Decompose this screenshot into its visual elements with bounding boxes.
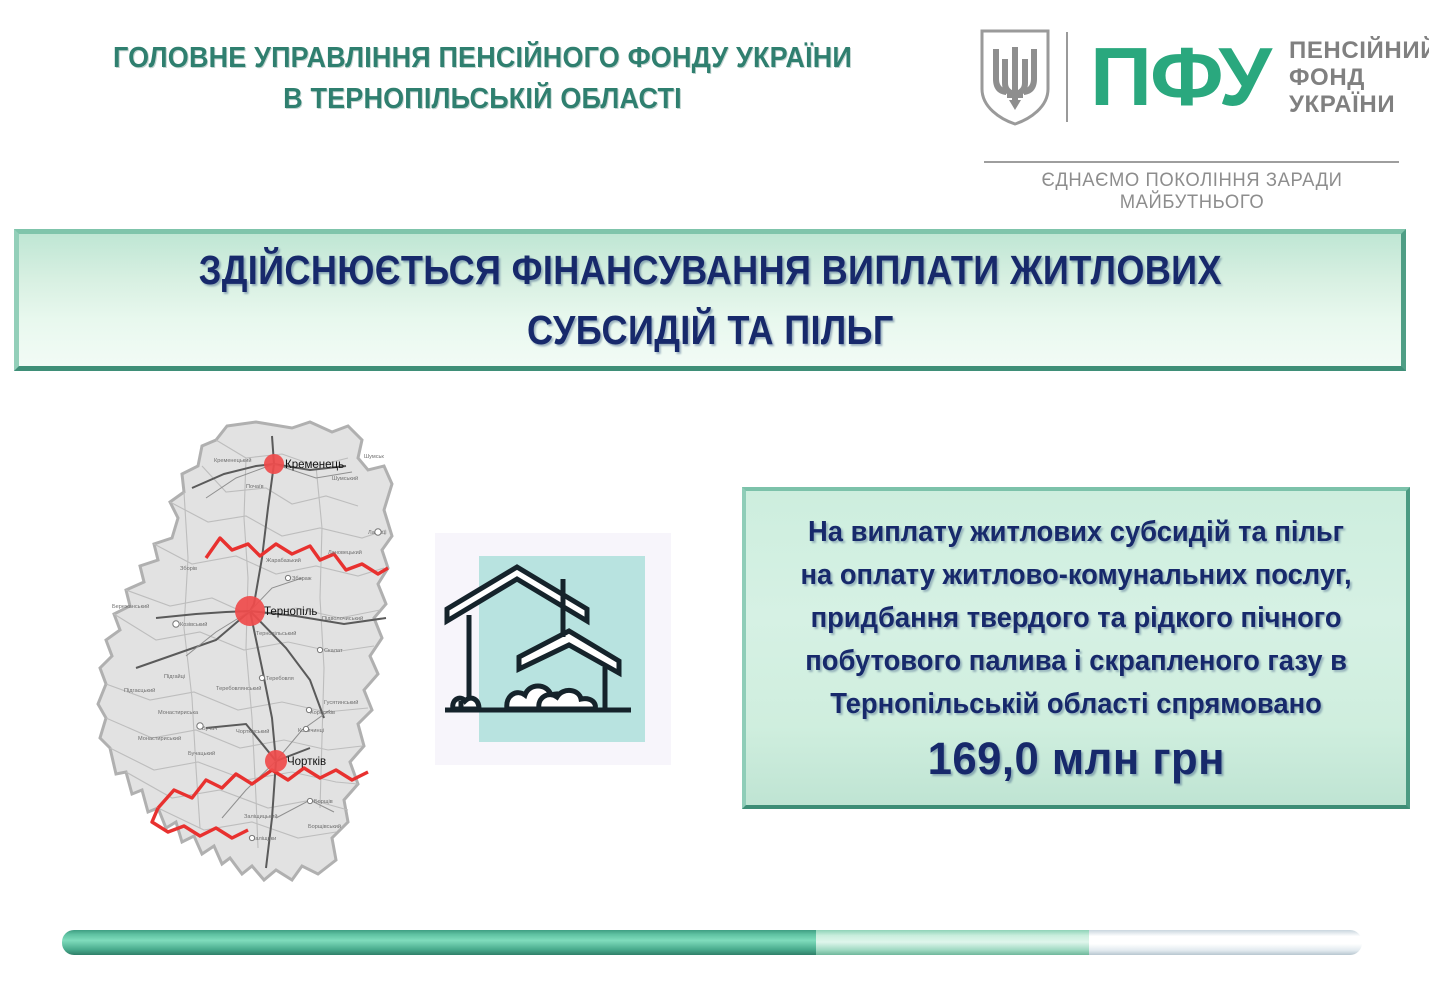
svg-text:Борщівський: Борщівський: [308, 823, 341, 830]
svg-text:Борщів: Борщів: [314, 799, 333, 805]
svg-text:Заліщицький: Заліщицький: [244, 813, 278, 820]
banner-text: ЗДІЙСНЮЄТЬСЯ ФІНАНСУВАННЯ ВИПЛАТИ ЖИТЛОВ…: [198, 240, 1221, 360]
logo-divider: [1066, 32, 1068, 122]
svg-text:Бучач: Бучач: [202, 726, 217, 732]
svg-text:Копичинці: Копичинці: [298, 728, 324, 734]
map-svg: Кременець Тернопіль Чортків Кременецький…: [96, 418, 426, 908]
svg-text:Чортківський: Чортківський: [236, 728, 269, 735]
svg-text:Бучацький: Бучацький: [188, 750, 215, 757]
funding-line-2: на оплату житлово-комунальних послуг,: [800, 554, 1351, 597]
pfu-word-2: ФОНД: [1289, 64, 1429, 91]
pfu-tagline: ЄДНАЄМО ПОКОЛІННЯ ЗАРАДИ МАЙБУТНЬОГО: [984, 170, 1399, 214]
svg-text:Монастириський: Монастириський: [138, 735, 181, 742]
footer-bar-segment-white: [1089, 930, 1362, 955]
svg-text:Козівський: Козівський: [180, 621, 207, 628]
funding-line-3: придбання твердого та рідкого пічного: [800, 597, 1351, 640]
svg-text:Бережанський: Бережанський: [112, 603, 149, 610]
svg-text:Тернопільський: Тернопільський: [256, 630, 296, 637]
svg-text:Підгайці: Підгайці: [164, 673, 185, 680]
svg-text:Монастириська: Монастириська: [158, 710, 199, 716]
org-title-line1: ГОЛОВНЕ УПРАВЛІННЯ ПЕНСІЙНОГО ФОНДУ УКРА…: [113, 42, 852, 74]
ukraine-trident-icon: [978, 27, 1052, 127]
tagline-divider: [984, 161, 1399, 163]
funding-description: На виплату житлових субсидій та пільг на…: [800, 511, 1351, 726]
map-label-kremenets: Кременець: [285, 459, 344, 471]
organization-title: ГОЛОВНЕ УПРАВЛІННЯ ПЕНСІЙНОГО ФОНДУ УКРА…: [43, 38, 922, 120]
svg-text:Шумський: Шумський: [332, 475, 358, 482]
svg-text:Хоростків: Хоростків: [310, 710, 335, 716]
svg-text:Скалат: Скалат: [324, 648, 343, 654]
map-label-ternopil: Тернопіль: [264, 606, 317, 618]
funding-line-4: побутового палива і скрапленого газу в: [800, 640, 1351, 683]
pfu-abbreviation: ПФУ: [1090, 35, 1270, 119]
ternopil-oblast-map: Кременець Тернопіль Чортків Кременецький…: [96, 418, 426, 908]
funding-line-1: На виплату житлових субсидій та пільг: [800, 511, 1351, 554]
svg-text:Жарабазький: Жарабазький: [266, 557, 301, 564]
svg-text:Заліщики: Заліщики: [252, 836, 276, 842]
housing-utilities-icon: [435, 533, 671, 765]
svg-text:Теребовля: Теребовля: [266, 676, 294, 682]
pfu-logo-block: ПФУ ПЕНСІЙНИЙ ФОНД УКРАЇНИ ЄДНАЄМО ПОКОЛ…: [978, 18, 1418, 193]
logo-row: ПФУ ПЕНСІЙНИЙ ФОНД УКРАЇНИ: [978, 18, 1429, 136]
pfu-word-1: ПЕНСІЙНИЙ: [1289, 37, 1429, 64]
footer-bar-segment-light: [816, 930, 1089, 955]
footer-decorative-bar: [62, 930, 1362, 955]
svg-text:Шумськ: Шумськ: [364, 454, 384, 460]
pfu-word-3: УКРАЇНИ: [1289, 91, 1429, 118]
svg-text:Збараж: Збараж: [292, 576, 312, 582]
svg-text:Почаїв: Почаїв: [246, 484, 264, 490]
map-label-chortkiv: Чортків: [287, 756, 326, 768]
svg-text:Теребовлянський: Теребовлянський: [216, 685, 261, 692]
svg-text:Зборів: Зборів: [180, 566, 197, 572]
org-title-line2: В ТЕРНОПІЛЬСЬКІЙ ОБЛАСТІ: [43, 79, 922, 120]
funding-line-5: Тернопільській області спрямовано: [800, 683, 1351, 726]
svg-text:Підгаєцький: Підгаєцький: [124, 687, 155, 694]
infographic-page: ГОЛОВНЕ УПРАВЛІННЯ ПЕНСІЙНОГО ФОНДУ УКРА…: [0, 0, 1429, 981]
svg-text:Гусятинський: Гусятинський: [324, 699, 358, 706]
pfu-full-name: ПЕНСІЙНИЙ ФОНД УКРАЇНИ: [1289, 37, 1429, 118]
title-banner: ЗДІЙСНЮЄТЬСЯ ФІНАНСУВАННЯ ВИПЛАТИ ЖИТЛОВ…: [14, 229, 1406, 371]
funding-info-box: На виплату житлових субсидій та пільг на…: [742, 487, 1410, 809]
housing-illustration-card: [435, 533, 671, 765]
footer-bar-segment-dark: [62, 930, 816, 955]
funding-amount: 169,0 млн грн: [927, 732, 1224, 786]
svg-text:Лановецький: Лановецький: [328, 549, 362, 556]
svg-text:Кременецький: Кременецький: [214, 457, 251, 464]
banner-line-2: СУБСИДІЙ ТА ПІЛЬГ: [198, 300, 1221, 360]
page-header: ГОЛОВНЕ УПРАВЛІННЯ ПЕНСІЙНОГО ФОНДУ УКРА…: [0, 0, 1429, 205]
svg-text:Підволочиський: Підволочиський: [322, 615, 363, 622]
banner-line-1: ЗДІЙСНЮЄТЬСЯ ФІНАНСУВАННЯ ВИПЛАТИ ЖИТЛОВ…: [198, 247, 1221, 293]
